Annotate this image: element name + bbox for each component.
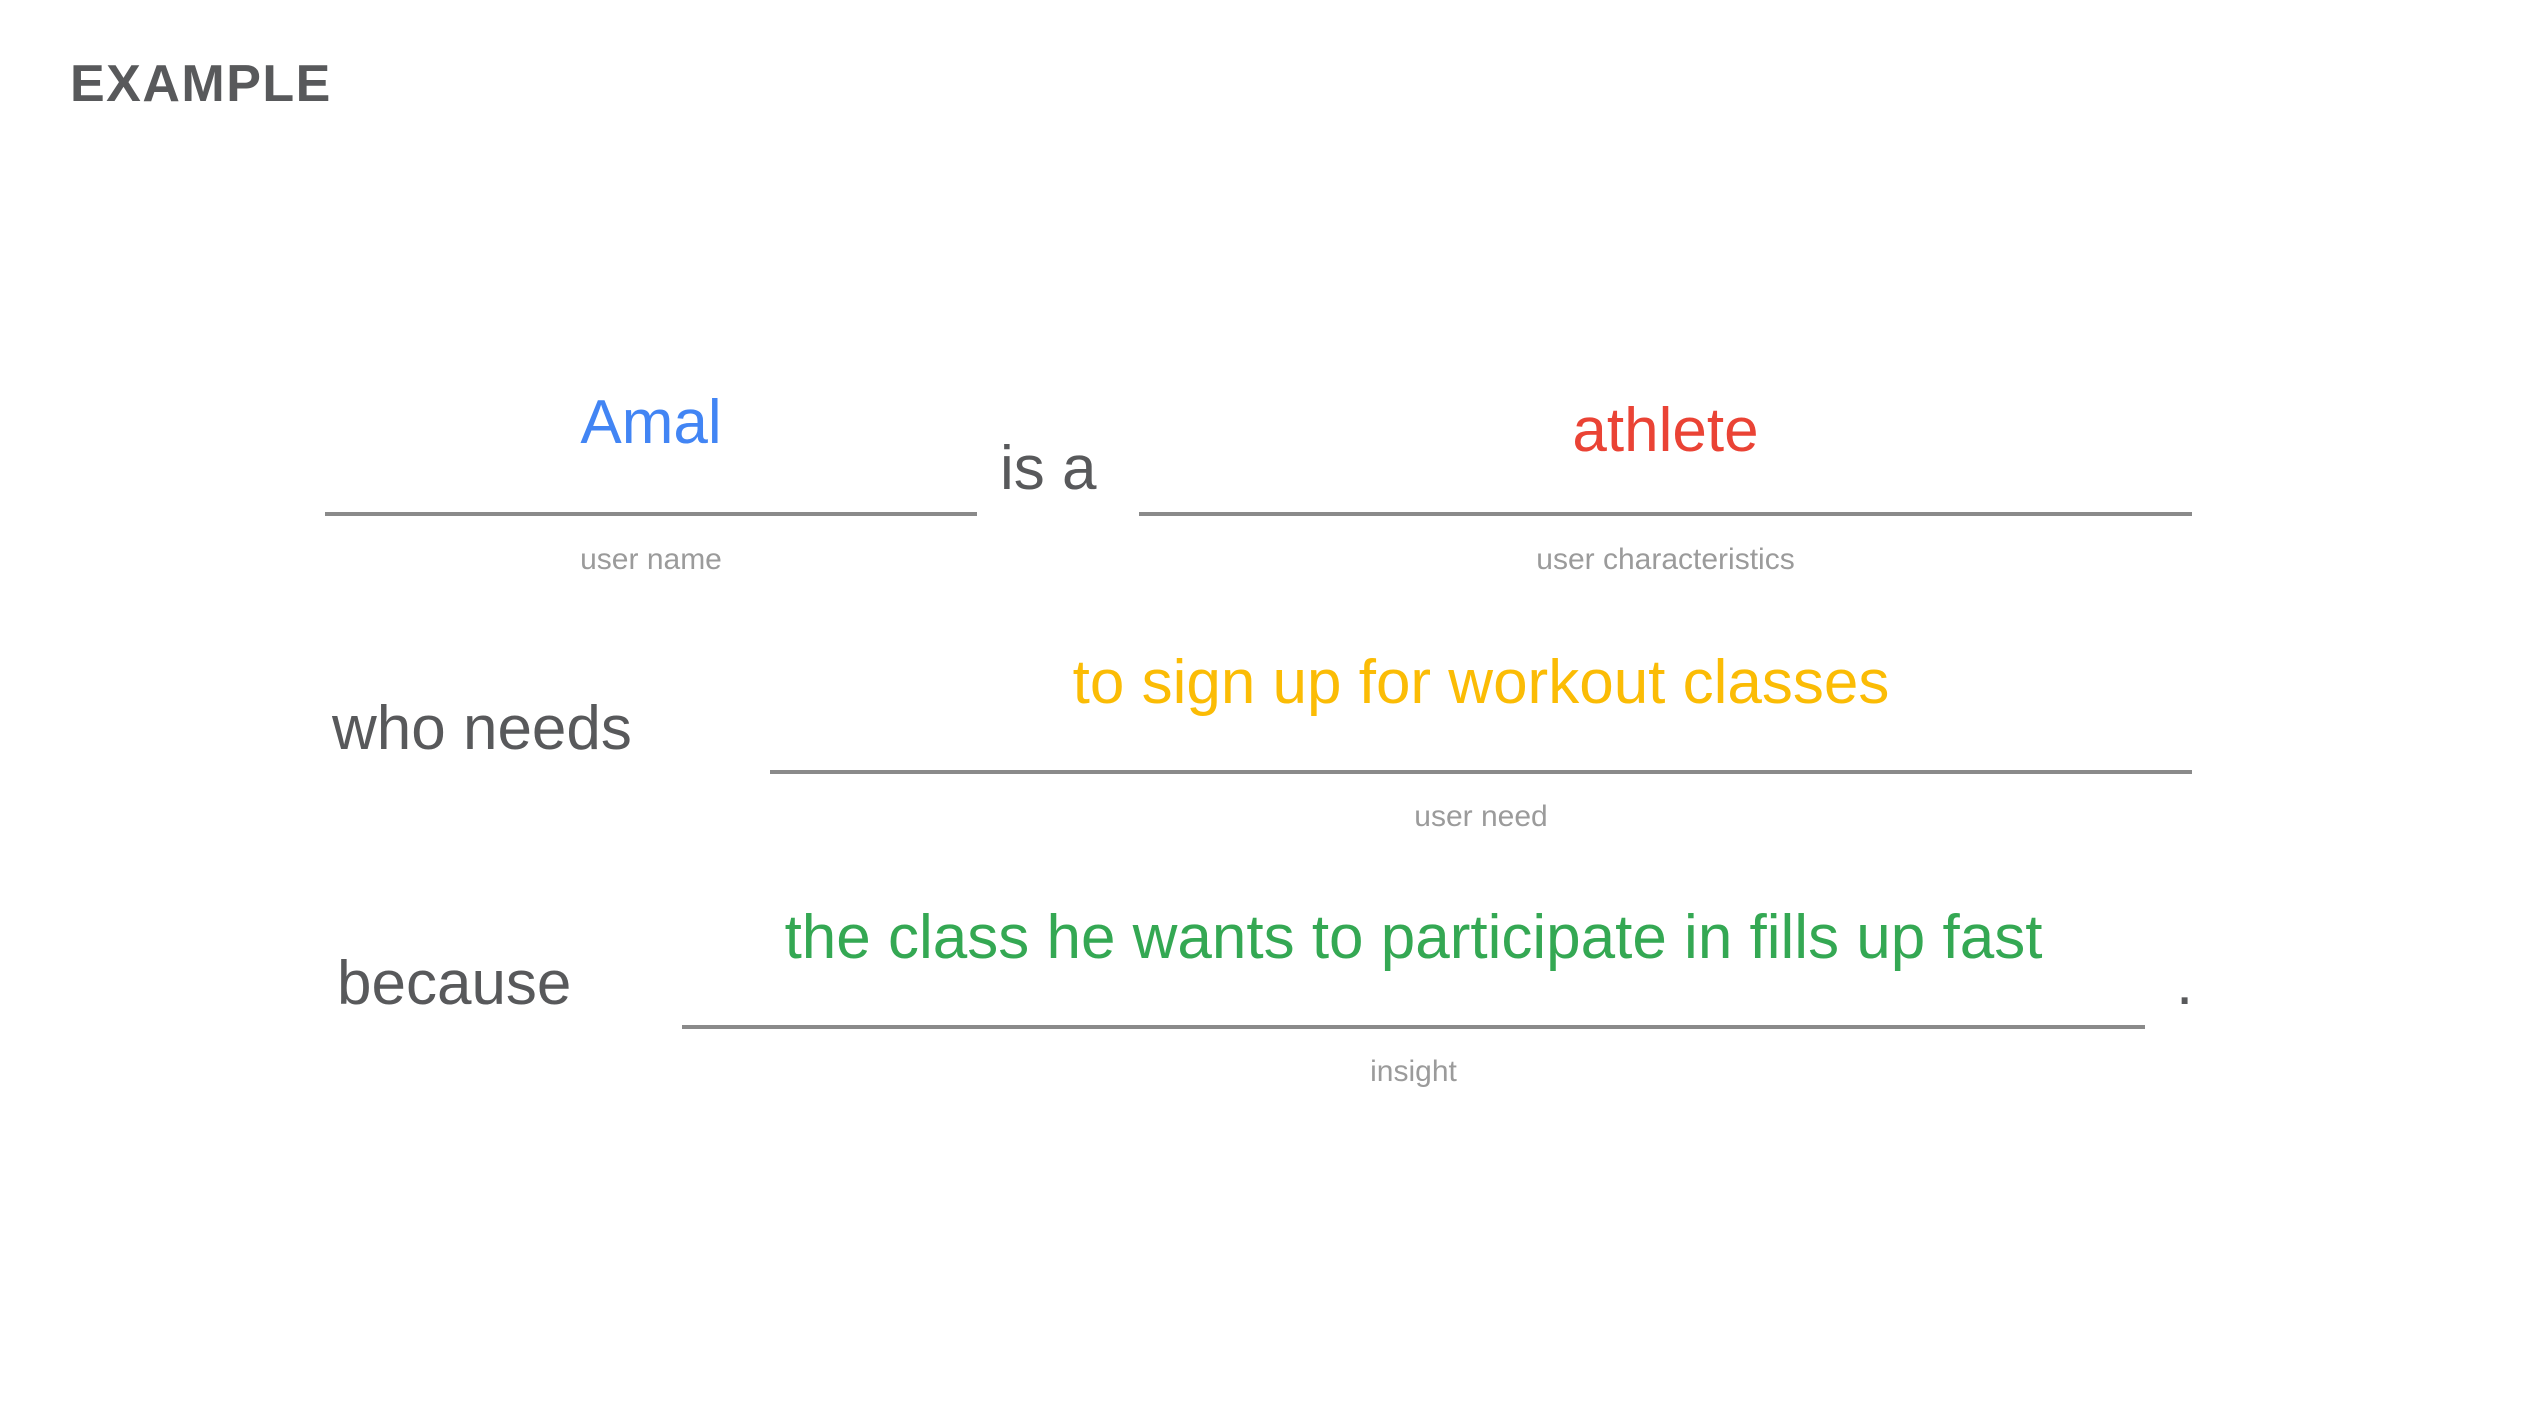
blank-user-need-rule [770,770,2192,774]
sentence-period: . [2176,953,2193,1015]
blank-insight-rule [682,1025,2145,1029]
blank-insight-caption: insight [682,1057,2145,1087]
blank-user-need-answer[interactable]: to sign up for workout classes [770,652,2192,714]
blank-user-need-caption: user need [770,802,2192,832]
blank-user-name-rule [325,512,977,516]
blank-user-characteristics-answer[interactable]: athlete [1139,400,2192,462]
blank-user-name-caption: user name [325,545,977,575]
blank-user-characteristics-rule [1139,512,2192,516]
blank-user-name-answer[interactable]: Amal [325,392,977,454]
blank-user-characteristics-caption: user characteristics [1139,545,2192,575]
connector-because: because [337,953,571,1015]
connector-who-needs: who needs [332,698,632,760]
blank-insight-answer[interactable]: the class he wants to participate in fil… [682,907,2145,969]
problem-statement-template: Amal user name is a athlete user charact… [0,0,2532,1410]
connector-is-a: is a [1000,438,1096,500]
slide-canvas: EXAMPLE Amal user name is a athlete user… [0,0,2532,1410]
